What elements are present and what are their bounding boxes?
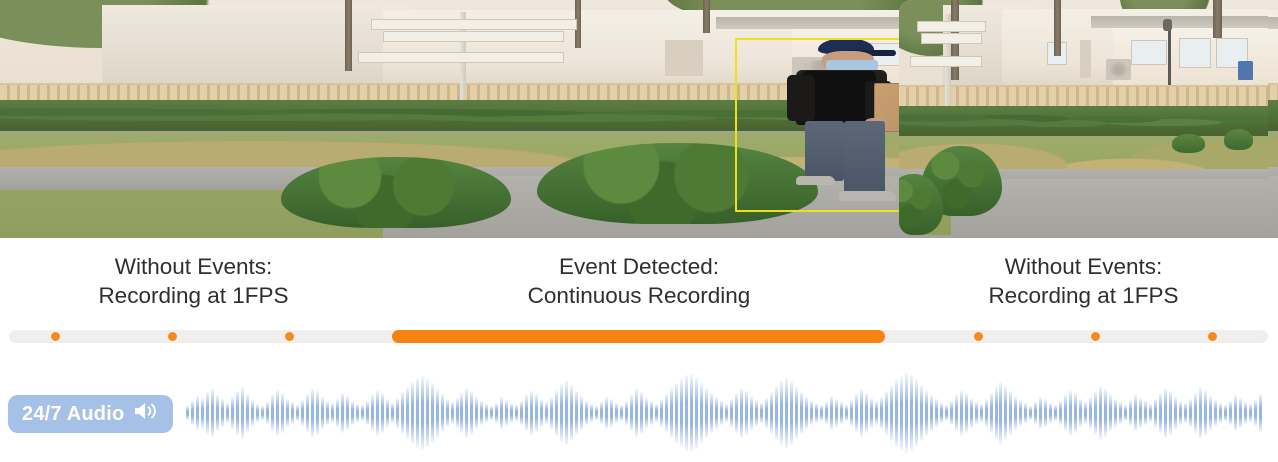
waveform-bar <box>990 393 993 432</box>
waveform-bar <box>730 399 733 427</box>
waveform-bar <box>441 394 444 432</box>
speaker-icon <box>133 401 159 427</box>
waveform-bar <box>985 399 988 426</box>
waveform-bar <box>1259 394 1262 432</box>
waveform-bar <box>206 392 209 434</box>
waveform-bar <box>1249 404 1252 422</box>
audio-badge[interactable]: 24/7 Audio <box>8 395 173 433</box>
waveform-bar <box>336 399 339 428</box>
waveform-bar <box>216 395 219 432</box>
waveform-bar <box>680 379 683 448</box>
waveform-bar <box>575 391 578 436</box>
waveform-bar <box>675 383 678 442</box>
waveform-bar <box>1024 403 1027 422</box>
waveform-bar <box>401 392 404 434</box>
waveform-bar <box>505 400 508 426</box>
waveform-bar <box>1004 386 1007 440</box>
waveform-bar <box>416 378 419 448</box>
waveform-bar <box>560 384 563 442</box>
waveform-bar <box>1009 391 1012 434</box>
waveform-bar <box>980 404 983 422</box>
waveform-bar <box>371 395 374 431</box>
waveform-bar <box>925 390 928 436</box>
audio-waveform[interactable] <box>186 373 1264 453</box>
waveform-bar <box>655 404 658 422</box>
waveform-bar <box>955 395 958 430</box>
waveform-bar <box>1059 401 1062 426</box>
waveform-bar <box>540 399 543 428</box>
caption-left-line1: Without Events: <box>9 252 378 281</box>
caption-left-line2: Recording at 1FPS <box>9 281 378 310</box>
caption-right-line1: Without Events: <box>899 252 1268 281</box>
waveform-bar <box>1204 390 1207 436</box>
caption-right-line2: Recording at 1FPS <box>899 281 1268 310</box>
waveform-bar <box>256 404 259 422</box>
waveform-bar <box>630 395 633 432</box>
waveform-bar <box>745 391 748 435</box>
waveform-bar <box>1244 402 1247 424</box>
waveform-bar <box>690 374 693 452</box>
waveform-bar <box>740 388 743 438</box>
waveform-bar <box>780 381 783 444</box>
waveform-bar <box>246 394 249 432</box>
waveform-bar <box>1174 397 1177 429</box>
camera-frame-middle[interactable] <box>0 0 494 235</box>
waveform-bar <box>351 401 354 426</box>
waveform-bar <box>625 401 628 426</box>
waveform-bar <box>1159 393 1162 433</box>
waveform-bar <box>475 397 478 430</box>
waveform-bar <box>765 398 768 428</box>
waveform-bar <box>860 389 863 436</box>
waveform-bar <box>366 401 369 424</box>
waveform-bar <box>525 395 528 430</box>
waveform-bar <box>266 402 269 424</box>
waveform-bar <box>396 398 399 428</box>
waveform-bar <box>770 392 773 434</box>
waveform-bar <box>1019 400 1022 426</box>
waveform-bar <box>226 403 229 424</box>
timeline-dot[interactable] <box>51 332 60 341</box>
waveform-bar <box>900 376 903 450</box>
waveform-bar <box>1094 391 1097 434</box>
waveform-bar <box>930 395 933 431</box>
waveform-bar <box>520 401 523 425</box>
waveform-bar <box>515 405 518 420</box>
waveform-bar <box>1049 403 1052 424</box>
waveform-bar <box>406 387 409 440</box>
waveform-bar <box>820 405 823 420</box>
waveform-bar <box>970 398 973 428</box>
waveform-bar <box>231 397 234 429</box>
waveform-bar <box>550 397 553 430</box>
waveform-bar <box>236 391 239 435</box>
waveform-bar <box>1189 399 1192 428</box>
waveform-bar <box>585 401 588 426</box>
waveform-bar <box>1029 406 1032 420</box>
waveform-bar <box>346 396 349 430</box>
caption-middle: Event Detected: Continuous Recording <box>392 252 886 310</box>
waveform-bar <box>1054 405 1057 421</box>
waveform-bar <box>1229 401 1232 425</box>
waveform-bar <box>685 375 688 451</box>
waveform-bar <box>460 393 463 434</box>
waveform-bar <box>600 402 603 424</box>
waveform-bar <box>1234 395 1237 430</box>
waveform-bar <box>865 393 868 434</box>
waveform-bar <box>1039 397 1042 430</box>
waveform-bar <box>615 403 618 423</box>
waveform-bar <box>935 399 938 426</box>
caption-right: Without Events: Recording at 1FPS <box>899 252 1268 310</box>
waveform-bar <box>960 390 963 436</box>
waveform-bar <box>1214 400 1217 426</box>
waveform-bar <box>311 389 314 438</box>
waveform-bar <box>1064 395 1067 431</box>
waveform-bar <box>700 383 703 444</box>
waveform-bar <box>291 402 294 424</box>
waveform-bar <box>386 399 389 427</box>
waveform-bar <box>196 396 199 430</box>
waveform-bar <box>451 402 454 424</box>
waveform-bar <box>760 403 763 423</box>
waveform-bar <box>381 393 384 432</box>
waveform-bar <box>1139 398 1142 428</box>
waveform-bar <box>1069 390 1072 436</box>
waveform-bar <box>950 401 953 425</box>
waveform-bar <box>830 396 833 430</box>
waveform-bar <box>286 399 289 428</box>
waveform-bar <box>361 405 364 420</box>
waveform-bar <box>1079 399 1082 428</box>
waveform-bar <box>470 391 473 435</box>
waveform-bar <box>1034 402 1037 424</box>
waveform-bar <box>1129 400 1132 426</box>
waveform-bar <box>1154 399 1157 427</box>
waveform-bar <box>1099 386 1102 440</box>
waveform-bar <box>605 397 608 429</box>
waveform-bar <box>870 398 873 428</box>
waveform-bar <box>880 397 883 429</box>
waveform-bar <box>1014 396 1017 430</box>
waveform-bar <box>1114 399 1117 427</box>
waveform-bar <box>945 405 948 421</box>
waveform-bar <box>495 403 498 424</box>
waveform-bar <box>331 403 334 422</box>
timeline-dot[interactable] <box>1091 332 1100 341</box>
waveform-bar <box>1134 395 1137 432</box>
waveform-bar <box>695 377 698 449</box>
waveform-bar <box>306 394 309 432</box>
waveform-bar <box>1239 398 1242 428</box>
waveform-bar <box>191 401 194 425</box>
caption-left: Without Events: Recording at 1FPS <box>9 252 378 310</box>
waveform-bar <box>500 397 503 428</box>
waveform-bar <box>391 403 394 424</box>
waveform-bar <box>590 404 593 422</box>
waveform-bar <box>999 382 1002 444</box>
waveform-bar <box>316 391 319 434</box>
waveform-bar <box>1184 403 1187 422</box>
waveform-bar <box>356 404 359 422</box>
waveform-bar <box>905 373 908 452</box>
waveform-bar <box>301 400 304 426</box>
waveform-bar <box>825 402 828 424</box>
waveform-bar <box>785 378 788 448</box>
waveform-bar <box>376 390 379 436</box>
waveform-bar <box>480 401 483 425</box>
waveform-bar <box>1224 405 1227 421</box>
waveform-bar <box>1209 396 1212 430</box>
waveform-bar <box>1074 393 1077 432</box>
waveform-bar <box>650 401 653 424</box>
waveform-bar <box>426 379 429 448</box>
waveform-bar <box>835 399 838 428</box>
waveform-bar <box>1194 393 1197 434</box>
waveform-bar <box>635 389 638 437</box>
scene-right <box>899 0 1268 235</box>
waveform-bar <box>850 400 853 426</box>
waveform-bar <box>720 401 723 425</box>
waveform-bar <box>805 397 808 430</box>
waveform-bar <box>1199 387 1202 439</box>
recording-timeline[interactable] <box>9 330 1268 344</box>
waveform-bar <box>326 401 329 425</box>
waveform-bar <box>545 402 548 424</box>
waveform-bar <box>795 387 798 440</box>
waveform-bar <box>1254 400 1257 426</box>
waveform-bar <box>705 388 708 438</box>
waveform-bar <box>875 401 878 424</box>
waveform-bar <box>1149 404 1152 422</box>
waveform-bar <box>1179 401 1182 426</box>
waveform-bar <box>341 393 344 433</box>
waveform-bar <box>815 403 818 422</box>
camera-frame-right[interactable] <box>899 0 1268 235</box>
waveform-bar <box>510 403 513 422</box>
waveform-bar <box>665 394 668 432</box>
waveform-bar <box>1104 389 1107 437</box>
waveform-bar <box>790 381 793 445</box>
waveform-bar <box>221 399 224 426</box>
waveform-bar <box>1144 401 1147 424</box>
waveform-bar <box>535 394 538 432</box>
waveform-bar <box>775 386 778 440</box>
scene-middle <box>0 0 494 235</box>
waveform-bar <box>800 392 803 434</box>
timeline-active-segment[interactable] <box>392 330 886 343</box>
waveform-bar <box>715 397 718 428</box>
waveform-bar <box>725 404 728 422</box>
waveform-bar <box>735 393 738 432</box>
waveform-bar <box>755 400 758 426</box>
waveform-bar <box>1119 402 1122 424</box>
waveform-bar <box>975 402 978 424</box>
waveform-bar <box>855 394 858 432</box>
waveform-bar <box>1164 388 1167 438</box>
waveform-bar <box>530 391 533 436</box>
waveform-bar <box>565 381 568 445</box>
waveform-bar <box>465 388 468 438</box>
waveform-bar <box>840 402 843 424</box>
waveform-bar <box>640 392 643 434</box>
waveform-bar <box>436 389 439 437</box>
waveform-bar <box>620 405 623 421</box>
waveform-bar <box>490 406 493 420</box>
caption-middle-line2: Continuous Recording <box>392 281 886 310</box>
waveform-bar <box>965 393 968 433</box>
waveform-bar <box>1124 405 1127 422</box>
waveform-bar <box>920 385 923 441</box>
waveform-bar <box>910 375 913 451</box>
waveform-bar <box>580 396 583 430</box>
waveform-bar <box>885 391 888 436</box>
waveform-bar <box>211 389 214 437</box>
waveform-bar <box>485 404 488 422</box>
waveform-bar <box>660 399 663 426</box>
waveform-bar <box>995 387 998 438</box>
waveform-bar <box>1219 403 1222 424</box>
waveform-bar <box>296 405 299 422</box>
waveform-bar <box>321 397 324 429</box>
waveform-bar <box>421 376 424 450</box>
waveform-bar <box>810 401 813 426</box>
audio-row: 24/7 Audio <box>0 373 1278 453</box>
waveform-bar <box>411 382 414 444</box>
waveform-bar <box>750 396 753 430</box>
waveform-bar <box>261 406 264 420</box>
waveform-bar <box>915 379 918 446</box>
waveform-bar <box>610 399 613 426</box>
waveform-bar <box>241 387 244 438</box>
waveform-bar <box>670 388 673 438</box>
camera-frames-row <box>0 0 1278 238</box>
waveform-bar <box>1044 399 1047 427</box>
waveform-bar <box>890 385 893 441</box>
caption-middle-line1: Event Detected: <box>392 252 886 281</box>
timeline-dot[interactable] <box>974 332 983 341</box>
waveform-bar <box>1109 395 1112 432</box>
waveform-bar <box>251 400 254 426</box>
captions-row: Without Events: Recording at 1FPS Event … <box>0 252 1278 318</box>
waveform-bar <box>186 406 189 420</box>
waveform-bar <box>595 406 598 420</box>
waveform-bar <box>1089 397 1092 428</box>
waveform-bar <box>201 398 204 428</box>
waveform-bar <box>570 385 573 441</box>
waveform-bar <box>456 398 459 428</box>
waveform-bar <box>276 390 279 436</box>
waveform-bar <box>895 379 898 446</box>
waveform-bar <box>710 393 713 433</box>
waveform-bar <box>1169 391 1172 434</box>
waveform-bar <box>431 383 434 442</box>
waveform-bar <box>645 398 648 428</box>
audio-badge-label: 24/7 Audio <box>22 403 124 426</box>
waveform-bar <box>271 395 274 430</box>
waveform-bar <box>555 390 558 436</box>
waveform-bar <box>1084 402 1087 424</box>
waveform-bar <box>281 393 284 433</box>
waveform-bar <box>446 399 449 427</box>
waveform-bar <box>940 403 943 424</box>
waveform-bar <box>845 405 848 422</box>
